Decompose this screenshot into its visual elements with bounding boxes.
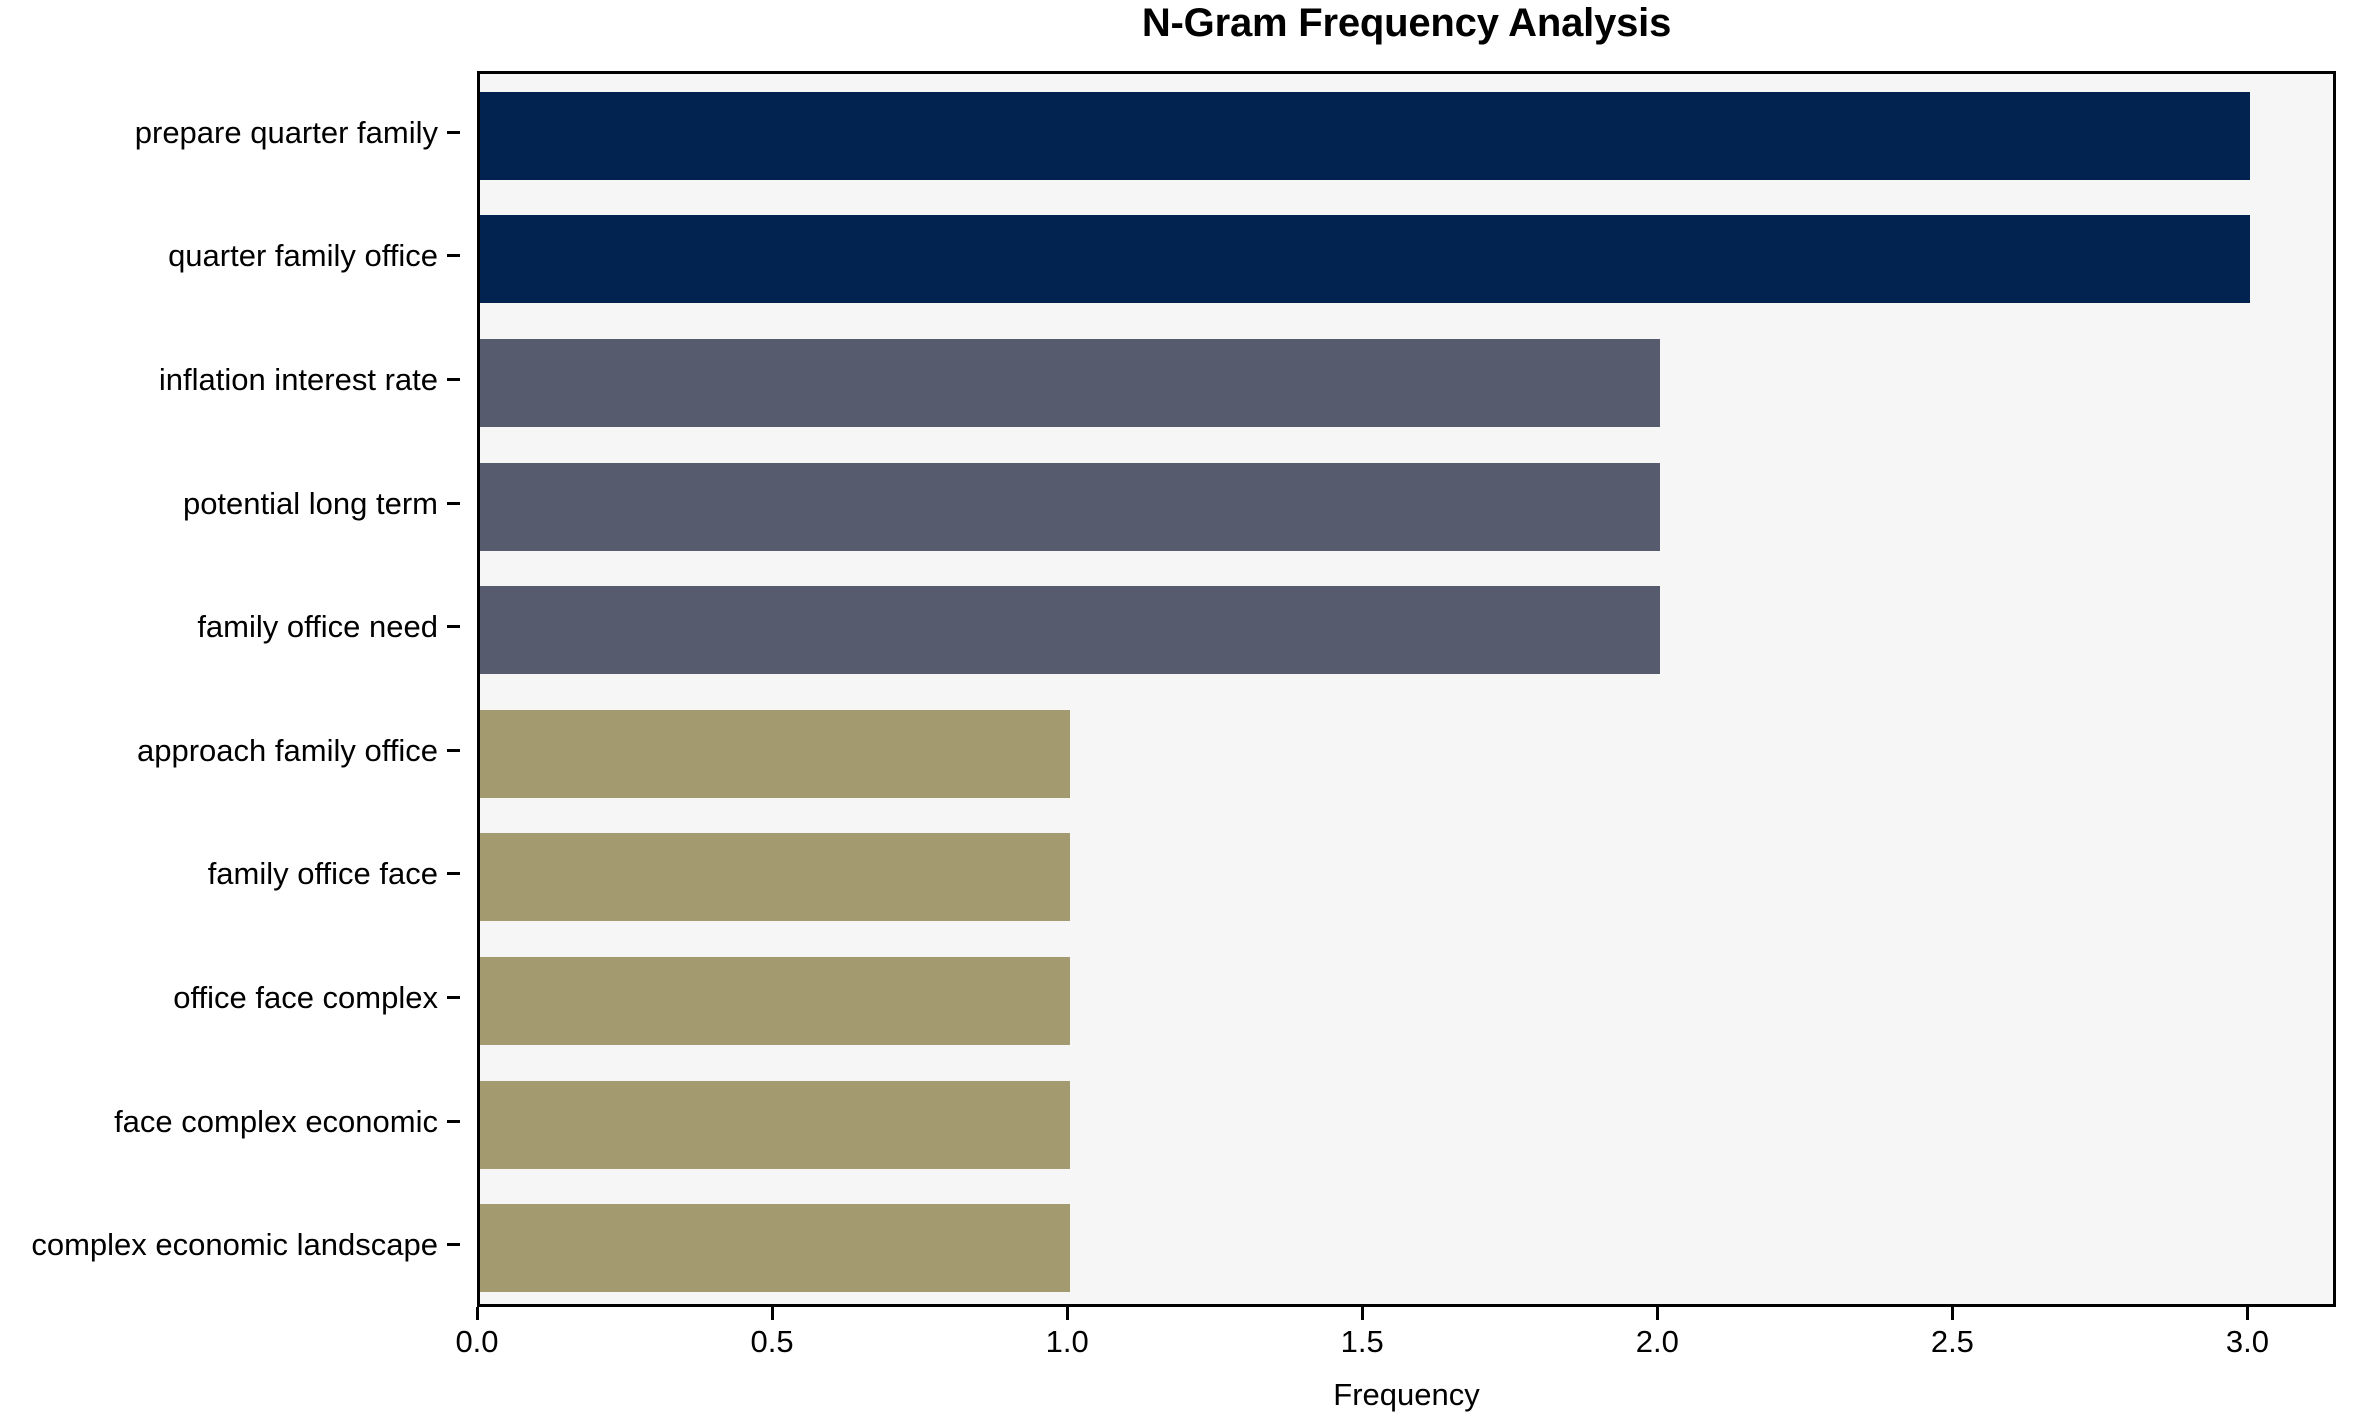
y-tick-mark bbox=[447, 749, 460, 752]
y-tick-label: approach family office bbox=[137, 729, 438, 773]
y-tick-mark bbox=[447, 625, 460, 628]
x-tick-mark bbox=[1361, 1307, 1364, 1320]
y-tick-label: complex economic landscape bbox=[31, 1223, 438, 1267]
y-tick-row: prepare quarter family bbox=[0, 111, 460, 155]
bars-layer bbox=[480, 74, 2333, 1304]
x-tick-mark bbox=[1656, 1307, 1659, 1320]
bar bbox=[480, 339, 1660, 427]
y-tick-mark bbox=[447, 872, 460, 875]
y-tick-label: potential long term bbox=[183, 482, 438, 526]
x-tick-mark bbox=[1951, 1307, 1954, 1320]
y-tick-row: inflation interest rate bbox=[0, 358, 460, 402]
x-tick-label: 0.0 bbox=[407, 1324, 547, 1360]
x-axis-title: Frequency bbox=[477, 1377, 2336, 1413]
y-tick-label: face complex economic bbox=[114, 1100, 438, 1144]
x-tick-label: 2.5 bbox=[1882, 1324, 2022, 1360]
y-tick-row: potential long term bbox=[0, 482, 460, 526]
y-tick-mark bbox=[447, 254, 460, 257]
chart-title: N-Gram Frequency Analysis bbox=[477, 2, 2336, 44]
x-tick-mark bbox=[2246, 1307, 2249, 1320]
y-tick-mark bbox=[447, 996, 460, 999]
x-tick-mark bbox=[1066, 1307, 1069, 1320]
x-tick-label: 1.0 bbox=[997, 1324, 1137, 1360]
y-tick-label: prepare quarter family bbox=[135, 111, 438, 155]
bar bbox=[480, 586, 1660, 674]
y-tick-row: face complex economic bbox=[0, 1100, 460, 1144]
bar bbox=[480, 833, 1070, 921]
x-tick-mark bbox=[476, 1307, 479, 1320]
y-tick-row: complex economic landscape bbox=[0, 1223, 460, 1267]
y-axis: prepare quarter familyquarter family off… bbox=[0, 71, 460, 1307]
y-tick-row: family office face bbox=[0, 852, 460, 896]
plot-area bbox=[477, 71, 2336, 1307]
y-tick-mark bbox=[447, 1243, 460, 1246]
y-tick-label: family office face bbox=[208, 852, 438, 896]
y-tick-row: family office need bbox=[0, 605, 460, 649]
bar bbox=[480, 1081, 1070, 1169]
y-tick-label: inflation interest rate bbox=[159, 358, 438, 402]
bar bbox=[480, 215, 2250, 303]
y-tick-label: family office need bbox=[197, 605, 438, 649]
bar bbox=[480, 957, 1070, 1045]
bar bbox=[480, 1204, 1070, 1292]
y-tick-mark bbox=[447, 378, 460, 381]
bar bbox=[480, 710, 1070, 798]
y-tick-mark bbox=[447, 1120, 460, 1123]
y-tick-label: office face complex bbox=[173, 976, 438, 1020]
y-tick-mark bbox=[447, 502, 460, 505]
x-tick-label: 3.0 bbox=[2177, 1324, 2317, 1360]
y-tick-row: office face complex bbox=[0, 976, 460, 1020]
y-tick-mark bbox=[447, 131, 460, 134]
figure-canvas: N-Gram Frequency Analysis prepare quarte… bbox=[0, 0, 2357, 1414]
x-tick-mark bbox=[771, 1307, 774, 1320]
y-tick-label: quarter family office bbox=[168, 234, 438, 278]
bar bbox=[480, 92, 2250, 180]
x-axis: Frequency 0.00.51.01.52.02.53.0 bbox=[477, 1307, 2336, 1414]
y-tick-row: quarter family office bbox=[0, 234, 460, 278]
bar bbox=[480, 463, 1660, 551]
y-tick-row: approach family office bbox=[0, 729, 460, 773]
x-tick-label: 0.5 bbox=[702, 1324, 842, 1360]
x-tick-label: 1.5 bbox=[1292, 1324, 1432, 1360]
x-tick-label: 2.0 bbox=[1587, 1324, 1727, 1360]
